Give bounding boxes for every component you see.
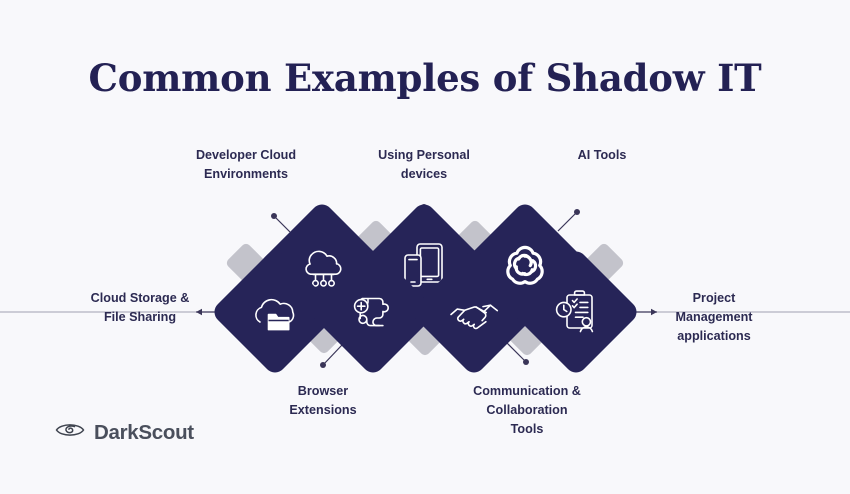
clipboard-tasks-icon [530,266,622,358]
eye-swirl-icon [55,420,85,445]
node-label-using-personal-devices: Using Personal devices [344,146,504,184]
infographic-canvas: Common Examples of Shadow IT Developer C… [0,0,850,494]
page-title: Common Examples of Shadow IT [0,56,850,100]
node-label-browser-extensions: Browser Extensions [243,382,403,420]
node-label-ai-tools: AI Tools [522,146,682,165]
puzzle-plus-icon [327,266,419,358]
node-label-communication-collaboration-tools: Communication & Collaboration Tools [447,382,607,439]
brand-name: DarkScout [94,421,194,445]
handshake-icon [428,266,520,358]
node-diamond-project-management-applications[interactable] [511,247,641,377]
brand-logo: DarkScout [55,420,194,445]
node-label-developer-cloud-environments: Developer Cloud Environments [166,146,326,184]
node-label-cloud-storage-file-sharing: Cloud Storage & File Sharing [60,289,220,327]
node-label-project-management-applications: Project Management applications [634,289,794,346]
cloud-folder-icon [229,266,321,358]
